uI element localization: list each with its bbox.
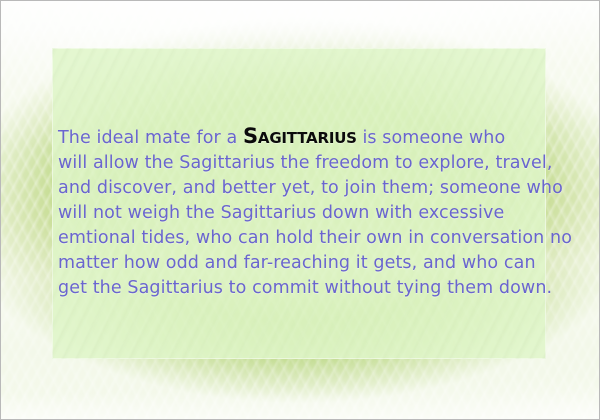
line-1-suffix: is someone who	[357, 128, 505, 148]
text-line-5: emtional tides, who can hold their own i…	[58, 226, 540, 251]
text-line-4: will not weigh the Sagittarius down with…	[58, 201, 540, 226]
text-line-1: The ideal mate for a Sagittarius is some…	[58, 124, 540, 151]
description-text-block: The ideal mate for a Sagittarius is some…	[58, 124, 540, 301]
astrology-sagittarius-graphic: The ideal mate for a Sagittarius is some…	[0, 0, 600, 420]
text-panel: The ideal mate for a Sagittarius is some…	[52, 48, 546, 359]
text-line-3: and discover, and better yet, to join th…	[58, 176, 540, 201]
text-line-7: get the Sagittarius to commit without ty…	[58, 276, 540, 301]
line-1-prefix: The ideal mate for a	[58, 128, 243, 148]
sign-name-heading: Sagittarius	[243, 124, 357, 148]
text-line-2: will allow the Sagittarius the freedom t…	[58, 151, 540, 176]
text-line-6: matter how odd and far-reaching it gets,…	[58, 251, 540, 276]
